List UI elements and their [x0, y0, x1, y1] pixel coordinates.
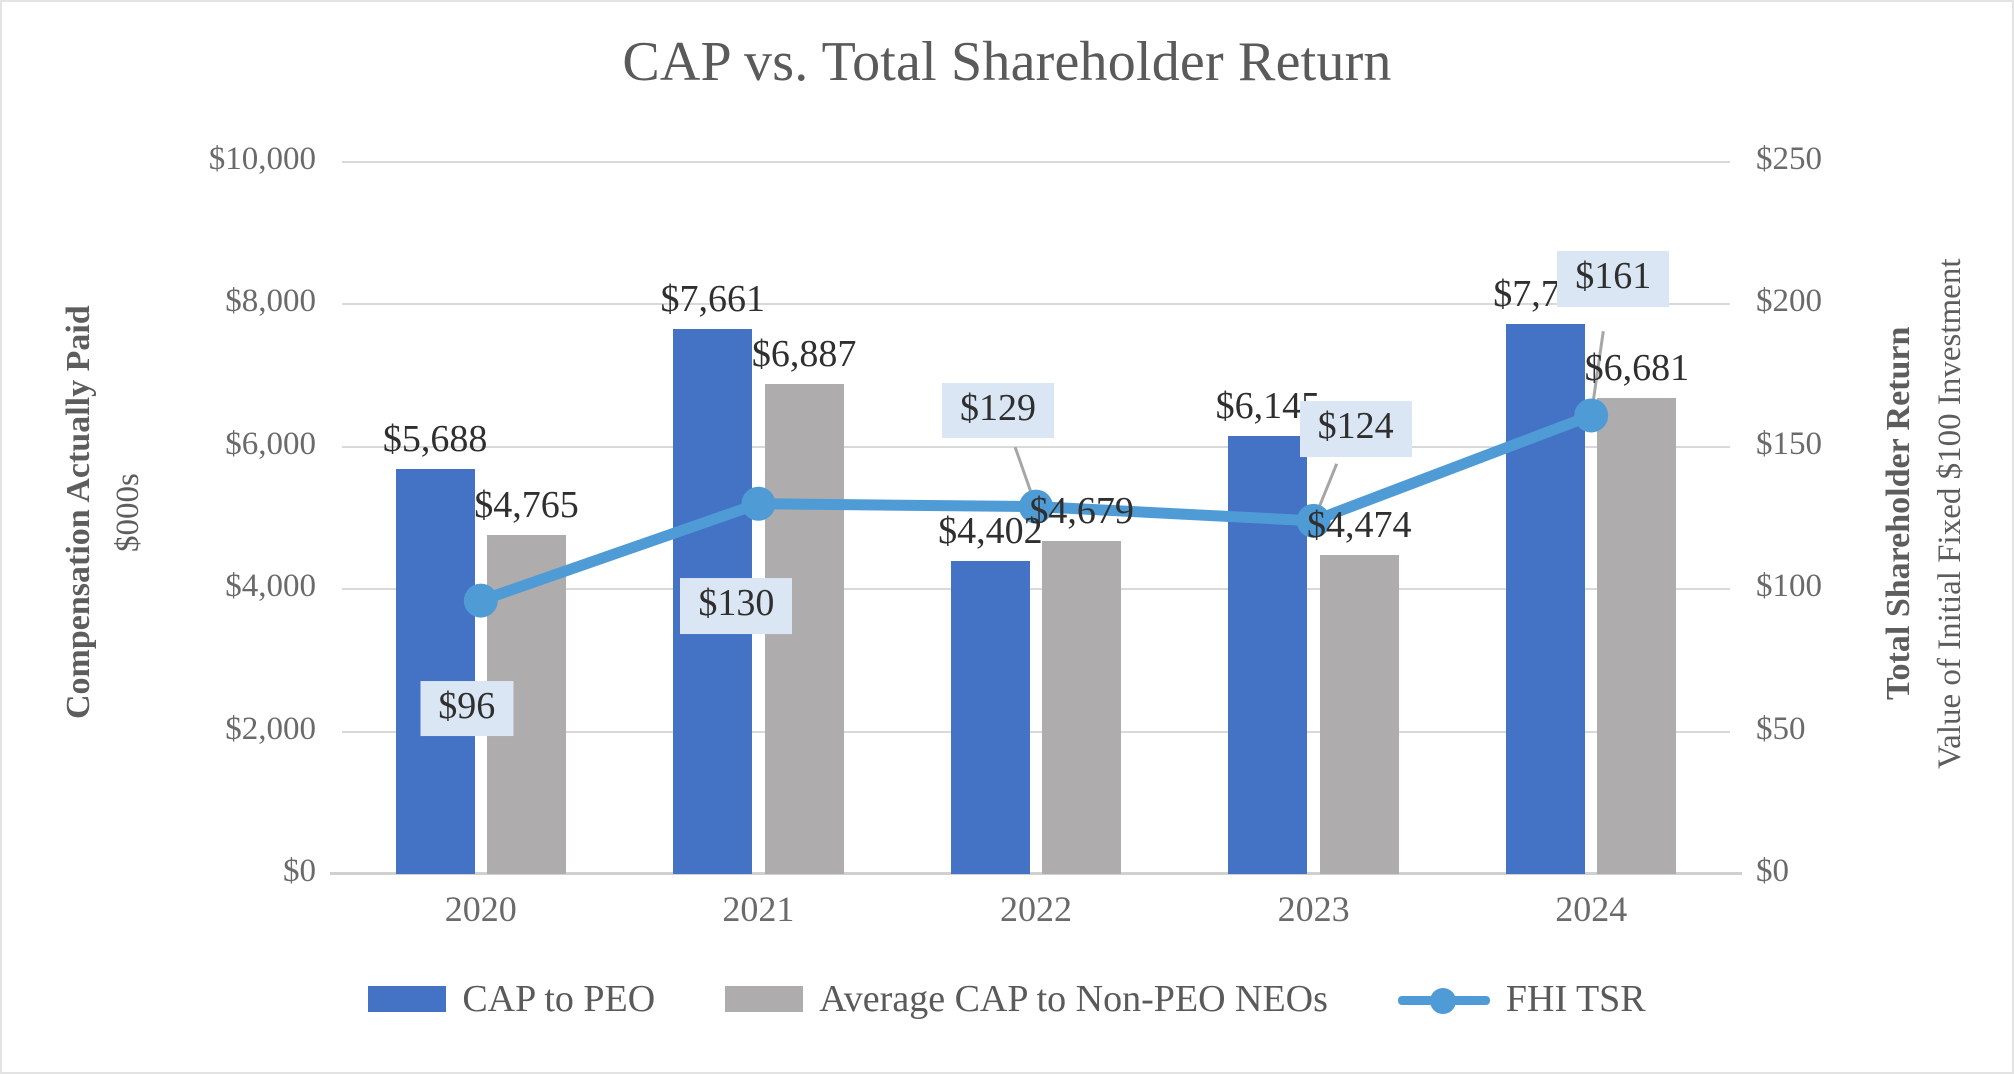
y-tick-right-100: $100: [1756, 570, 1822, 603]
chart-title: CAP vs. Total Shareholder Return: [2, 30, 2012, 94]
tsr-marker-2024[interactable]: [1574, 398, 1608, 432]
tsr-marker-2021[interactable]: [741, 487, 775, 521]
legend-item-fhi-tsr[interactable]: FHI TSR: [1398, 977, 1646, 1021]
bar-label-neo-2024: $6,681: [1585, 346, 1690, 390]
x-tick-2024: 2024: [1555, 888, 1627, 930]
legend-line-marker-icon: [1398, 986, 1490, 1012]
y-tick-right-50: $50: [1756, 713, 1806, 746]
y-tick-right-0: $0: [1756, 855, 1789, 888]
bar-label-peo-2021: $7,661: [660, 277, 765, 321]
chart-legend: CAP to PEOAverage CAP to Non-PEO NEOsFHI…: [2, 977, 2012, 1021]
bar-label-peo-2022: $4,402: [938, 509, 1043, 553]
y-tick-left-6000: $6,000: [225, 428, 316, 461]
chart-container: CAP vs. Total Shareholder Return Compens…: [0, 0, 2014, 1074]
bar-label-peo-2020: $5,688: [383, 417, 488, 461]
y-axis-right-subtitle: Value of Initial Fixed $100 Investment: [1932, 174, 1969, 854]
y-tick-right-250: $250: [1756, 143, 1822, 176]
legend-label: CAP to PEO: [462, 977, 655, 1021]
legend-item-cap-to-peo[interactable]: CAP to PEO: [368, 977, 655, 1021]
legend-label: FHI TSR: [1506, 977, 1646, 1021]
x-tick-2020: 2020: [445, 888, 517, 930]
y-tick-left-2000: $2,000: [225, 713, 316, 746]
y-axis-left-title: Compensation Actually Paid: [60, 302, 98, 722]
y-tick-right-150: $150: [1756, 428, 1822, 461]
y-tick-left-10000: $10,000: [209, 143, 316, 176]
bar-label-neo-2021: $6,887: [752, 332, 857, 376]
tsr-callout-2023: $124: [1300, 401, 1412, 457]
y-tick-right-200: $200: [1756, 285, 1822, 318]
tsr-callout-2021: $130: [680, 578, 792, 634]
bar-label-neo-2022: $4,679: [1029, 489, 1134, 533]
bar-label-neo-2023: $4,474: [1307, 503, 1412, 547]
legend-swatch-icon: [368, 986, 446, 1012]
tsr-callout-2020: $96: [420, 681, 513, 737]
plot-area: $0$2,000$4,000$6,000$8,000$10,000 $0$50$…: [342, 162, 1730, 874]
legend-item-average-cap-to-non-peo-neos[interactable]: Average CAP to Non-PEO NEOs: [725, 977, 1328, 1021]
bar-label-neo-2020: $4,765: [474, 483, 579, 527]
x-tick-2021: 2021: [722, 888, 794, 930]
legend-swatch-icon: [725, 986, 803, 1012]
y-tick-left-8000: $8,000: [225, 285, 316, 318]
tsr-callout-2024: $161: [1557, 252, 1669, 308]
legend-label: Average CAP to Non-PEO NEOs: [819, 977, 1328, 1021]
y-axis-right-title: Total Shareholder Return: [1880, 298, 1918, 728]
tsr-callout-2022: $129: [942, 383, 1054, 439]
y-axis-left-subtitle: $000s: [110, 418, 147, 608]
y-tick-left-0: $0: [283, 855, 316, 888]
x-tick-2023: 2023: [1278, 888, 1350, 930]
tsr-marker-2020[interactable]: [464, 584, 498, 618]
y-tick-left-4000: $4,000: [225, 570, 316, 603]
x-tick-2022: 2022: [1000, 888, 1072, 930]
